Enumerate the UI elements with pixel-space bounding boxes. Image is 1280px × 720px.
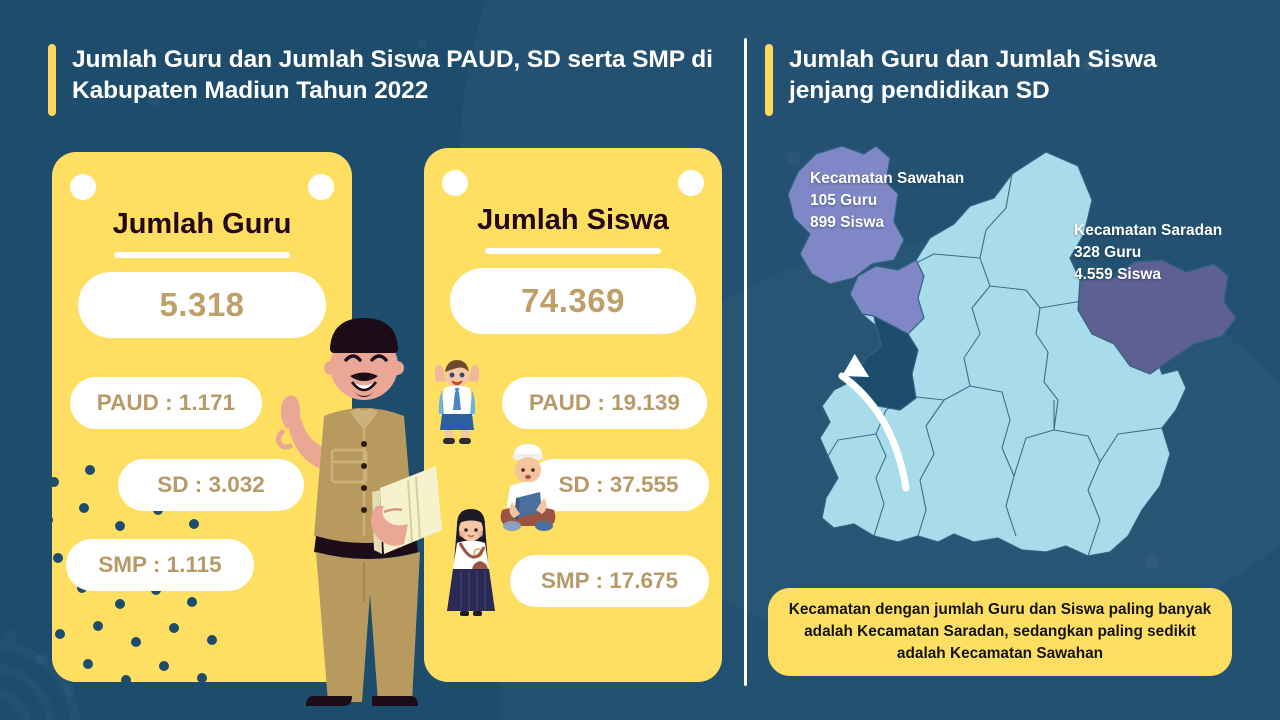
- right-heading-text: Jumlah Guru dan Jumlah Siswa jenjang pen…: [789, 44, 1235, 107]
- right-panel-heading: Jumlah Guru dan Jumlah Siswa jenjang pen…: [765, 44, 1235, 116]
- left-heading-text: Jumlah Guru dan Jumlah Siswa PAUD, SD se…: [72, 44, 728, 107]
- guru-smp-pill: SMP : 1.115: [66, 539, 254, 591]
- card-title-siswa: Jumlah Siswa: [424, 204, 722, 237]
- card-title-rule: [114, 252, 290, 258]
- map-label-sawahan: Kecamatan Sawahan 105 Guru 899 Siswa: [810, 168, 964, 234]
- saradan-name: Kecamatan Saradan: [1074, 220, 1222, 242]
- total-siswa-value: 74.369: [450, 268, 696, 334]
- vertical-divider: [744, 38, 747, 686]
- siswa-paud-pill: PAUD : 19.139: [502, 377, 707, 429]
- saradan-siswa: 4.559 Siswa: [1074, 264, 1222, 286]
- map-label-saradan: Kecamatan Saradan 328 Guru 4.559 Siswa: [1074, 220, 1222, 286]
- card-title-guru: Jumlah Guru: [52, 208, 352, 241]
- heading-accent-bar: [48, 44, 56, 116]
- card-punch-hole-left: [442, 170, 468, 196]
- sawahan-siswa: 899 Siswa: [810, 212, 964, 234]
- heading-accent-bar: [765, 44, 773, 116]
- saradan-guru: 328 Guru: [1074, 242, 1222, 264]
- sawahan-name: Kecamatan Sawahan: [810, 168, 964, 190]
- guru-sd-pill: SD : 3.032: [118, 459, 304, 511]
- card-punch-hole-right: [308, 174, 334, 200]
- card-punch-hole-left: [70, 174, 96, 200]
- summary-caption: Kecamatan dengan jumlah Guru dan Siswa p…: [768, 588, 1232, 676]
- siswa-smp-pill: SMP : 17.675: [510, 555, 709, 607]
- stat-card-siswa: Jumlah Siswa 74.369 PAUD : 19.139 SD : 3…: [424, 148, 722, 682]
- card-title-rule: [485, 248, 661, 254]
- total-guru-value: 5.318: [78, 272, 326, 338]
- stat-card-guru: Jumlah Guru 5.318 PAUD : 1.171 SD : 3.03…: [52, 152, 352, 682]
- card-punch-hole-right: [678, 170, 704, 196]
- sawahan-guru: 105 Guru: [810, 190, 964, 212]
- left-panel-heading: Jumlah Guru dan Jumlah Siswa PAUD, SD se…: [48, 44, 728, 116]
- siswa-sd-pill: SD : 37.555: [528, 459, 709, 511]
- guru-paud-pill: PAUD : 1.171: [70, 377, 262, 429]
